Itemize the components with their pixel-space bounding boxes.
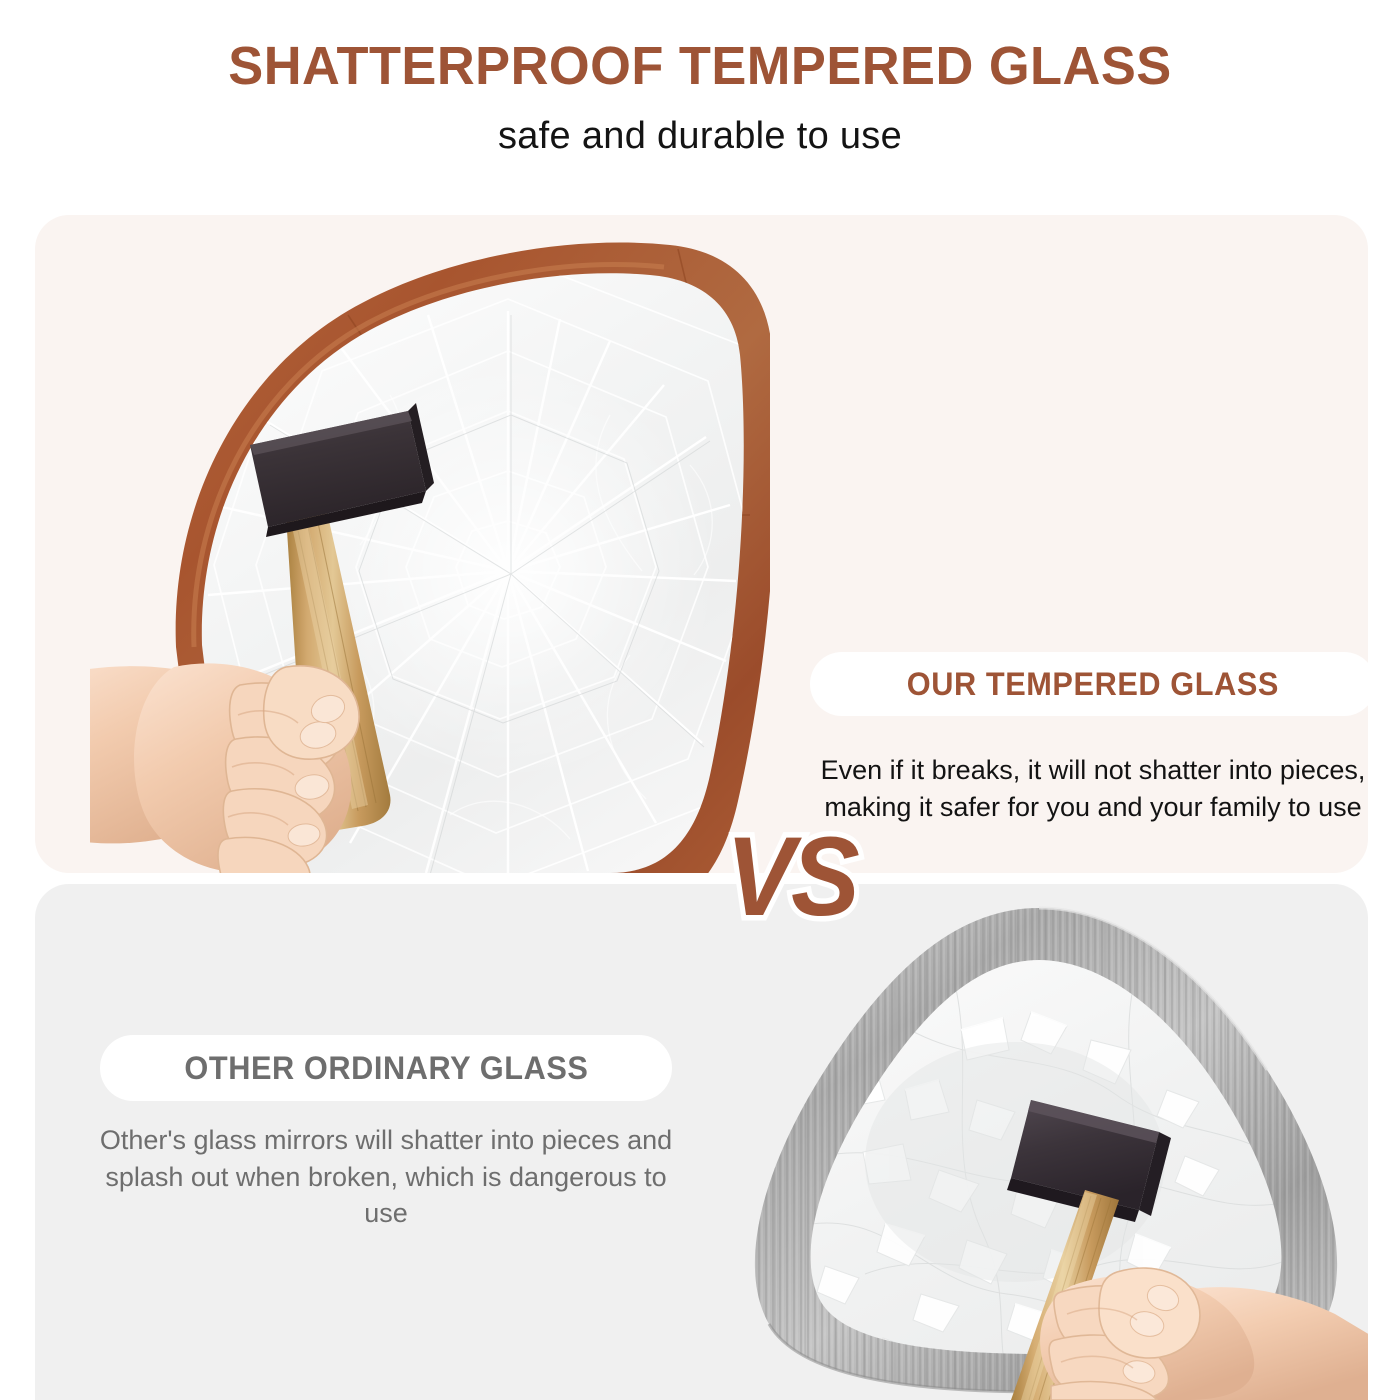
ordinary-glass-badge: OTHER ORDINARY GLASS	[100, 1035, 672, 1101]
ordinary-glass-description: Other's glass mirrors will shatter into …	[98, 1122, 674, 1232]
tempered-glass-panel: OUR TEMPERED GLASS Even if it breaks, it…	[35, 215, 1368, 873]
hand-gripping-hammer	[90, 663, 359, 873]
page-subtitle: safe and durable to use	[0, 115, 1400, 158]
tempered-glass-badge: OUR TEMPERED GLASS	[810, 652, 1368, 716]
tempered-glass-badge-label: OUR TEMPERED GLASS	[907, 666, 1279, 703]
versus-icon: VS	[722, 806, 860, 946]
page-title: SHATTERPROOF TEMPERED GLASS	[21, 38, 1379, 95]
tempered-glass-description: Even if it breaks, it will not shatter i…	[813, 752, 1368, 825]
tempered-glass-image	[90, 215, 770, 873]
ordinary-glass-panel: OTHER ORDINARY GLASS Other's glass mirro…	[35, 884, 1368, 1400]
ordinary-glass-badge-label: OTHER ORDINARY GLASS	[184, 1050, 588, 1087]
header: SHATTERPROOF TEMPERED GLASS safe and dur…	[0, 0, 1400, 158]
ordinary-glass-image	[715, 894, 1368, 1400]
